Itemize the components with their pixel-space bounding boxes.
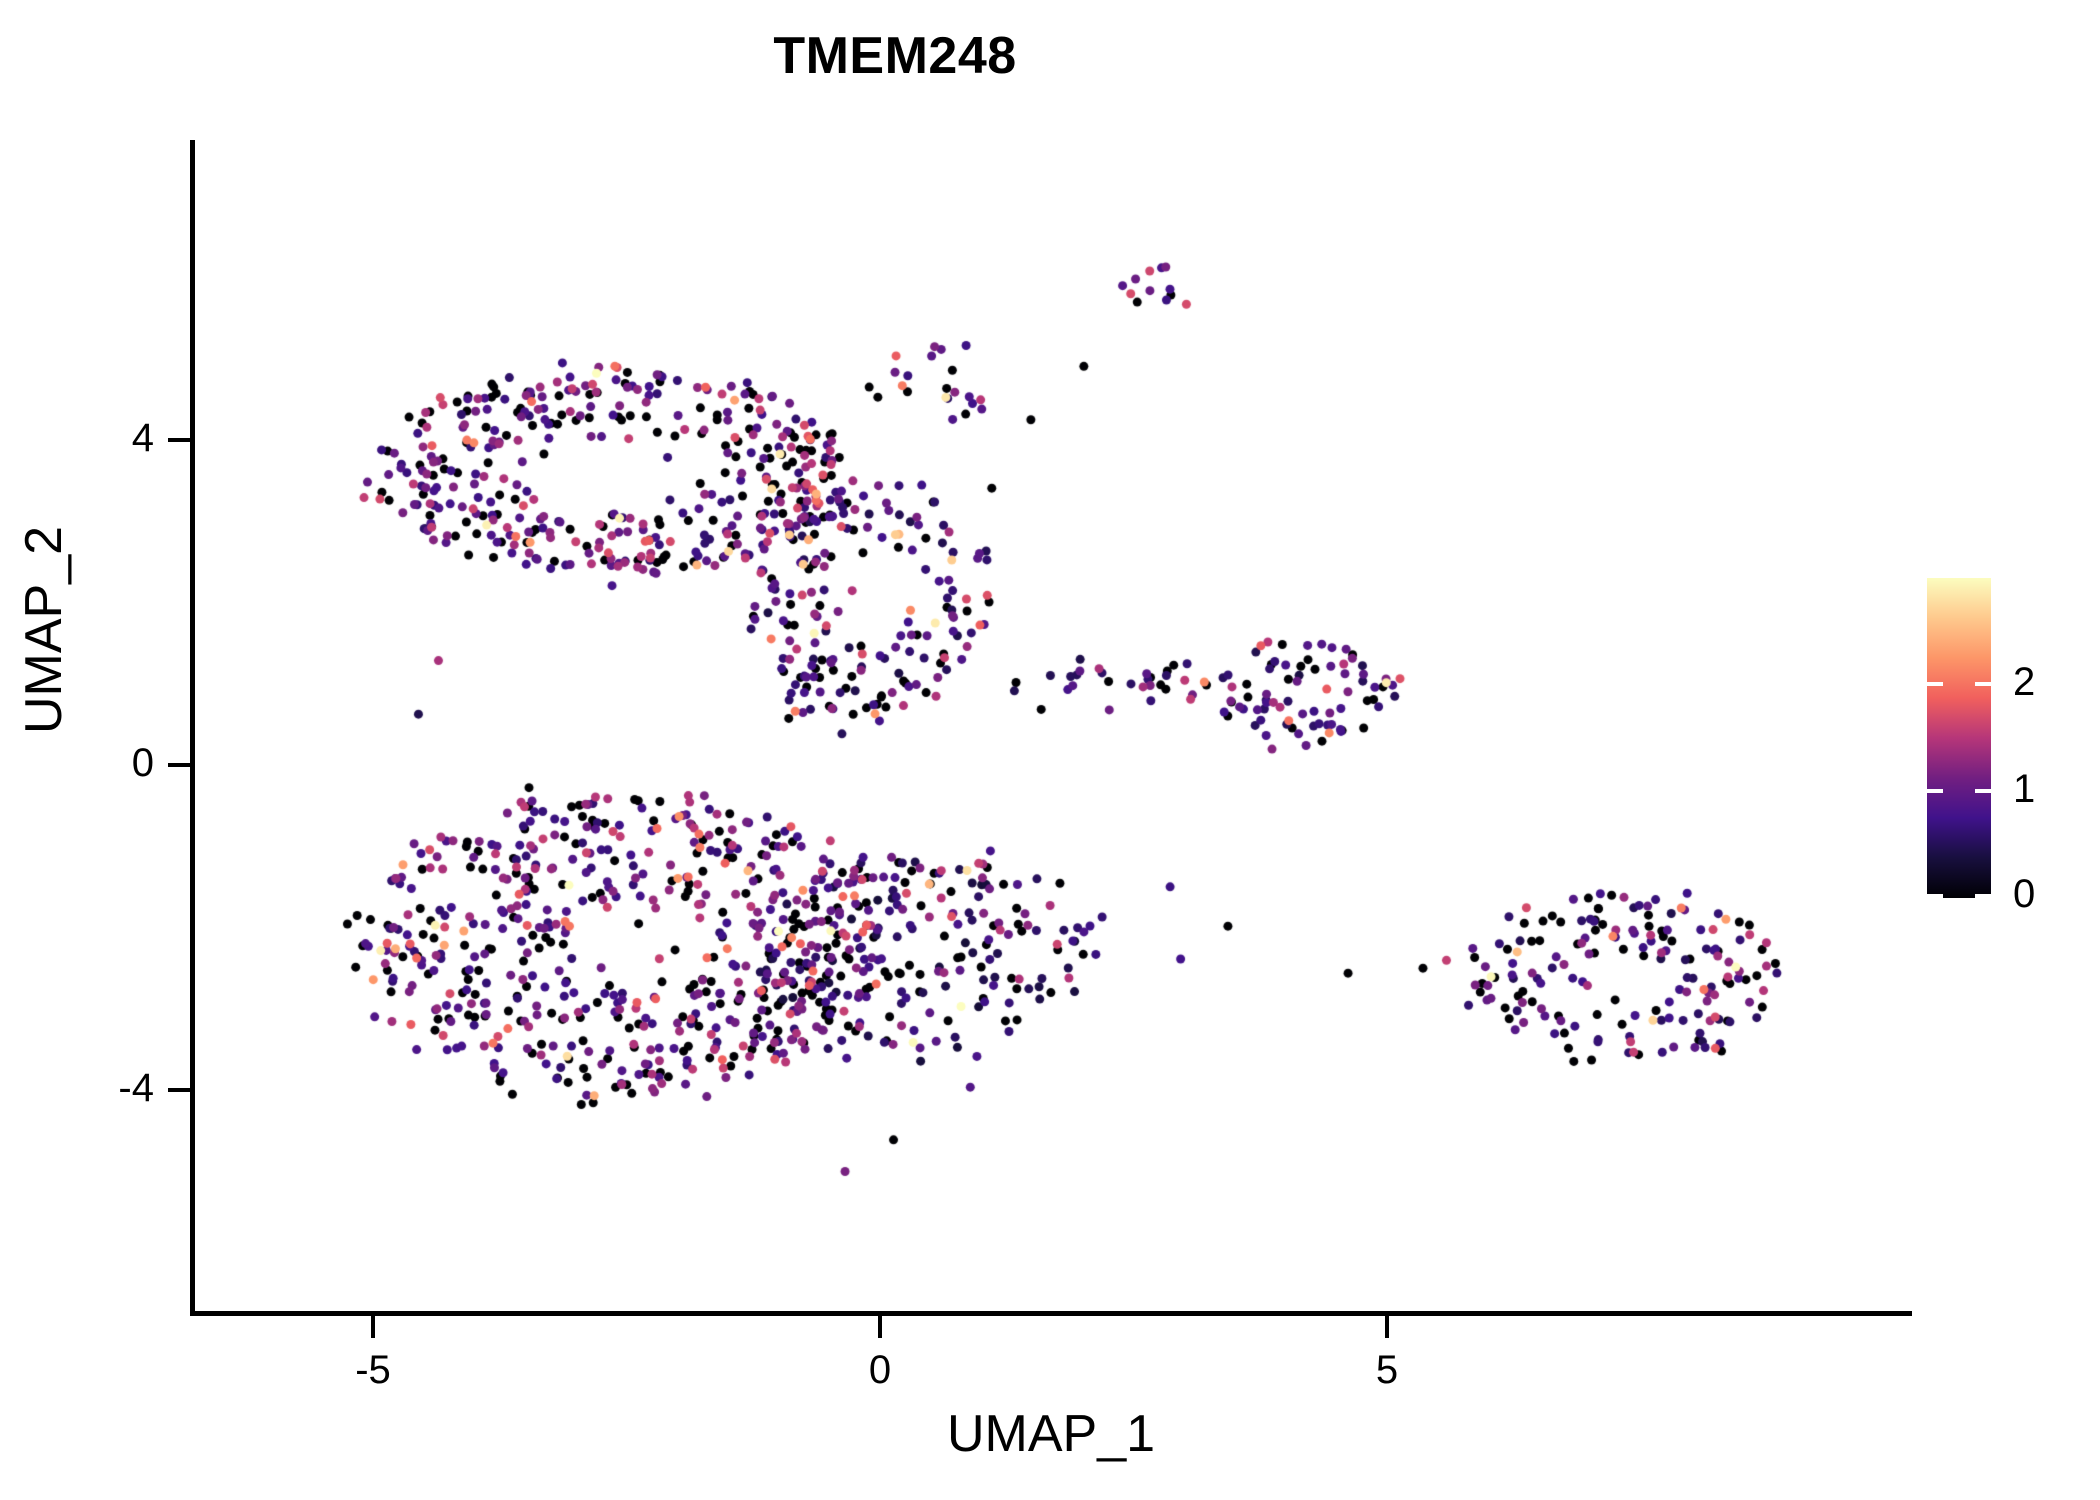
colorbar-gradient <box>1927 578 1991 898</box>
colorbar-label-1: 1 <box>2013 769 2035 809</box>
x-tick-label-n5: -5 <box>303 1348 443 1392</box>
scatter-points-area <box>192 140 1912 1311</box>
colorbar-tick-1-right <box>1975 789 1991 793</box>
colorbar-legend: 2 1 0 <box>1927 578 1991 898</box>
colorbar-tick-1-left <box>1927 789 1943 793</box>
page-title: TMEM248 <box>0 26 1790 86</box>
x-axis-line <box>190 1311 1912 1316</box>
y-tick-mark-n4 <box>168 1088 190 1092</box>
y-tick-label-n4: -4 <box>34 1068 154 1108</box>
x-tick-mark-5 <box>1385 1316 1389 1338</box>
x-axis-label: UMAP_1 <box>190 1404 1912 1464</box>
umap-feature-plot: TMEM248 4 0 -4 -5 0 5 UMAP_2 UMAP_1 2 1 … <box>0 0 2100 1500</box>
colorbar-tick-2-right <box>1975 682 1991 686</box>
x-tick-mark-0 <box>878 1316 882 1338</box>
colorbar-tick-0-right <box>1975 894 1991 898</box>
colorbar-label-0: 0 <box>2013 874 2035 914</box>
x-tick-mark-n5 <box>371 1316 375 1338</box>
y-axis-label: UMAP_2 <box>14 350 74 910</box>
colorbar-label-2: 2 <box>2013 662 2035 702</box>
y-tick-mark-0 <box>168 763 190 767</box>
y-tick-mark-4 <box>168 438 190 442</box>
colorbar-tick-0-left <box>1927 894 1943 898</box>
scatter-canvas <box>192 140 1912 1311</box>
colorbar-tick-2-left <box>1927 682 1943 686</box>
x-tick-label-0: 0 <box>810 1348 950 1392</box>
x-tick-label-5: 5 <box>1317 1348 1457 1392</box>
